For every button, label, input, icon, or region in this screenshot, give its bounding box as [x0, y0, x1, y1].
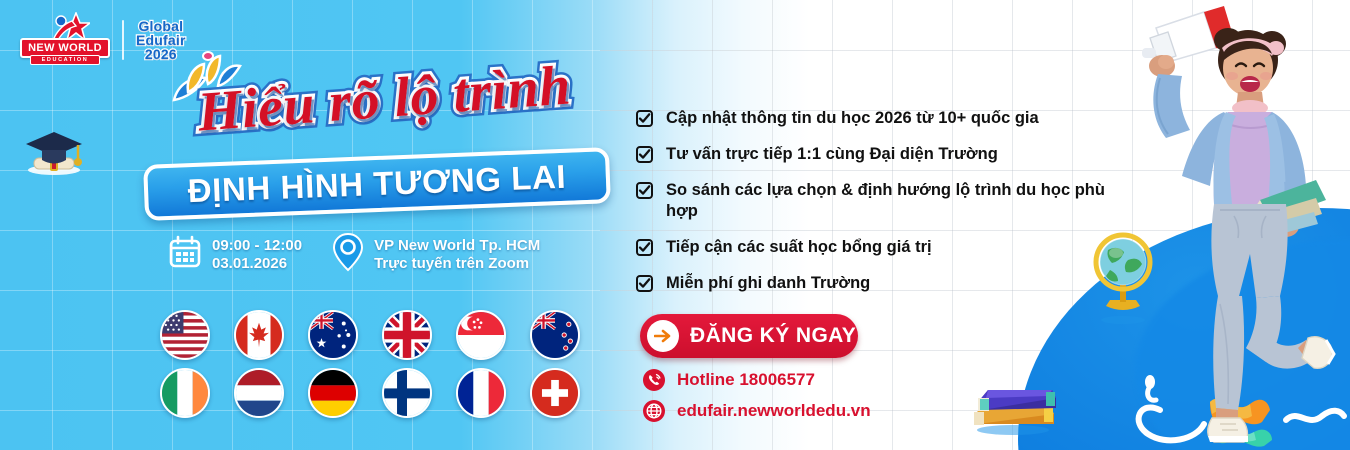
- event-info-row: 09:00 - 12:00 03.01.2026 VP New World Tp…: [168, 232, 540, 277]
- event-date: 03.01.2026: [212, 255, 302, 273]
- list-item-label: So sánh các lựa chọn & định hướng lộ trì…: [666, 180, 1106, 222]
- website-text: edufair.newworldedu.vn: [677, 401, 871, 421]
- brand-logo-group[interactable]: NEW WORLD EDUCATION Global Edufair 2026: [20, 18, 186, 62]
- benefits-list: Cập nhật thông tin du học 2026 từ 10+ qu…: [636, 108, 1106, 309]
- list-item-label: Miễn phí ghi danh Trường: [666, 273, 870, 294]
- contact-group: Hotline 18006577 edufair.newworldedu.vn: [642, 368, 871, 430]
- hotline-row[interactable]: Hotline 18006577: [642, 368, 871, 392]
- flag-usa[interactable]: [160, 310, 210, 360]
- checkbox-icon: [636, 146, 653, 163]
- register-button[interactable]: ĐĂNG KÝ NGAY: [640, 314, 858, 358]
- list-item: Tư vấn trực tiếp 1:1 cùng Đại diện Trườn…: [636, 144, 1106, 165]
- banner-root: NEW WORLD EDUCATION Global Edufair 2026: [0, 0, 1350, 450]
- list-item-label: Tư vấn trực tiếp 1:1 cùng Đại diện Trườn…: [666, 144, 998, 165]
- checkbox-icon: [636, 182, 653, 199]
- event-datetime: 09:00 - 12:00 03.01.2026: [168, 235, 302, 274]
- flag-ireland[interactable]: [160, 368, 210, 418]
- new-world-logo[interactable]: NEW WORLD EDUCATION: [20, 18, 110, 62]
- event-location: VP New World Tp. HCM Trực tuyến trên Zoo…: [332, 232, 540, 277]
- flag-finland[interactable]: [382, 368, 432, 418]
- website-row[interactable]: edufair.newworldedu.vn: [642, 399, 871, 423]
- list-item-label: Cập nhật thông tin du học 2026 từ 10+ qu…: [666, 108, 1039, 129]
- event-line-1: Global: [136, 19, 186, 33]
- list-item: Cập nhật thông tin du học 2026 từ 10+ qu…: [636, 108, 1106, 129]
- checkbox-icon: [636, 239, 653, 256]
- event-time: 09:00 - 12:00: [212, 237, 302, 255]
- register-button-label: ĐĂNG KÝ NGAY: [690, 324, 856, 348]
- student-with-megaphone-image: [1120, 4, 1350, 450]
- list-item: So sánh các lựa chọn & định hướng lộ trì…: [636, 180, 1106, 222]
- calendar-icon: [168, 235, 202, 274]
- event-online: Trực tuyến trên Zoom: [374, 255, 540, 273]
- graduation-cap-icon: [14, 118, 94, 180]
- flag-germany[interactable]: [308, 368, 358, 418]
- globe-icon: [642, 399, 666, 423]
- flag-australia[interactable]: [308, 310, 358, 360]
- hotline-text: Hotline 18006577: [677, 370, 815, 390]
- checkbox-icon: [636, 110, 653, 127]
- flag-new-zealand[interactable]: [530, 310, 580, 360]
- event-line-2: Edufair: [136, 33, 186, 47]
- flag-singapore[interactable]: [456, 310, 506, 360]
- event-venue: VP New World Tp. HCM: [374, 237, 540, 255]
- logo-divider: [122, 20, 124, 60]
- list-item-label: Tiếp cận các suất học bổng giá trị: [666, 237, 932, 258]
- flag-netherlands[interactable]: [234, 368, 284, 418]
- logo-subtitle: EDUCATION: [30, 55, 100, 65]
- location-pin-icon: [332, 232, 364, 277]
- stacked-books-icon: [958, 368, 1068, 438]
- flag-france[interactable]: [456, 368, 506, 418]
- flag-canada[interactable]: [234, 310, 284, 360]
- list-item: Miễn phí ghi danh Trường: [636, 273, 1106, 294]
- arrow-right-icon: [647, 320, 679, 352]
- checkbox-icon: [636, 275, 653, 292]
- list-item: Tiếp cận các suất học bổng giá trị: [636, 237, 1106, 258]
- country-flags-grid: [160, 310, 604, 426]
- flag-switzerland[interactable]: [530, 368, 580, 418]
- flag-uk[interactable]: [382, 310, 432, 360]
- phone-icon: [642, 368, 666, 392]
